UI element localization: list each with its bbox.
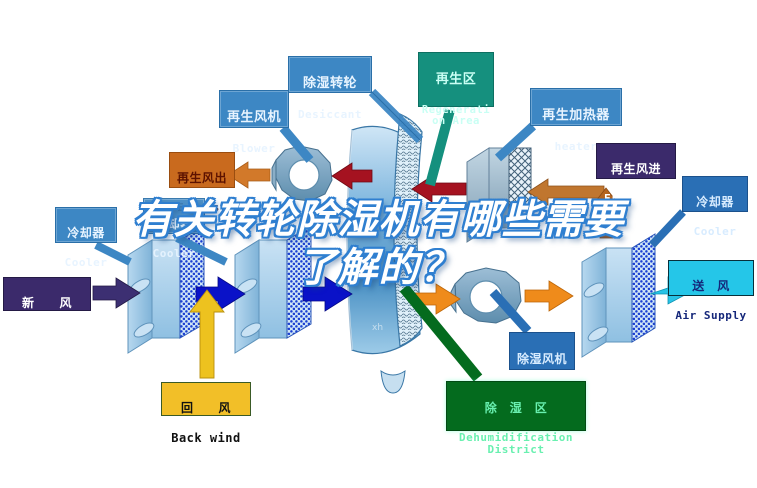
- label-dehumidification-blower-cn: 除湿风机: [510, 353, 574, 366]
- label-desiccant-rotor-en: Desiccant: [289, 109, 371, 121]
- label-regen-exhaust-cn: 再生风出: [170, 172, 234, 185]
- label-dehumidification-blower: 除湿风机 Blower: [509, 332, 575, 370]
- label-back-wind-en: Back wind: [162, 432, 250, 445]
- label-fresh-air-in-en: Fresh Air: [4, 327, 90, 339]
- label-regen-heater-cn: 再生加热器: [531, 109, 621, 123]
- label-air-supply: 送 风 Air Supply: [668, 260, 754, 296]
- label-dehumidification-district-en: Dehumidification District: [447, 432, 585, 456]
- label-cooler-left-en: Cooler: [56, 257, 116, 269]
- label-cooler-right-cn: 冷却器: [683, 196, 747, 209]
- label-regeneration-area: 再生区 Regenerati on Area: [418, 52, 494, 107]
- label-cooler-middle-en: Cooler: [144, 248, 204, 260]
- label-dehumidification-district-cn: 除 湿 区: [447, 402, 585, 415]
- label-regen-blower: 再生风机 Blower: [219, 90, 289, 128]
- label-fresh-air-in: 新 风 Fresh Air: [3, 277, 91, 311]
- label-dehumidification-district: 除 湿 区 Dehumidification District: [446, 381, 586, 431]
- label-regeneration-area-cn: 再生区: [419, 73, 493, 87]
- label-cooler-left-cn: 冷却器: [56, 227, 116, 240]
- label-back-wind-cn: 回 风: [162, 402, 250, 415]
- label-regen-fresh-air: 再生风进 Fresh Air: [596, 143, 676, 179]
- label-regen-fresh-air-cn: 再生风进: [597, 163, 675, 176]
- label-regen-fresh-air-en: Fresh Air: [597, 193, 675, 205]
- label-regen-exhaust: 再生风出 Exhaust: [169, 152, 235, 188]
- label-cooler-right-en: Cooler: [683, 226, 747, 238]
- label-air-supply-cn: 送 风: [669, 280, 753, 293]
- label-cooler-middle-cn: 冷却器: [144, 218, 204, 231]
- label-cooler-middle: 冷却器 Cooler: [143, 198, 205, 234]
- label-regen-blower-cn: 再生风机: [220, 111, 288, 125]
- label-regeneration-area-en: Regenerati on Area: [419, 105, 493, 128]
- label-desiccant-rotor-cn: 除湿转轮: [289, 77, 371, 91]
- label-cooler-left: 冷却器 Cooler: [55, 207, 117, 243]
- label-back-wind: 回 风 Back wind: [161, 382, 251, 416]
- label-regen-heater: 再生加热器 heater: [530, 88, 622, 126]
- label-fresh-air-in-cn: 新 风: [4, 297, 90, 310]
- diagram-canvas: xh: [0, 0, 757, 488]
- label-cooler-right: 冷却器 Cooler: [682, 176, 748, 212]
- label-air-supply-en: Air Supply: [669, 310, 753, 322]
- label-desiccant-rotor: 除湿转轮 Desiccant: [288, 56, 372, 93]
